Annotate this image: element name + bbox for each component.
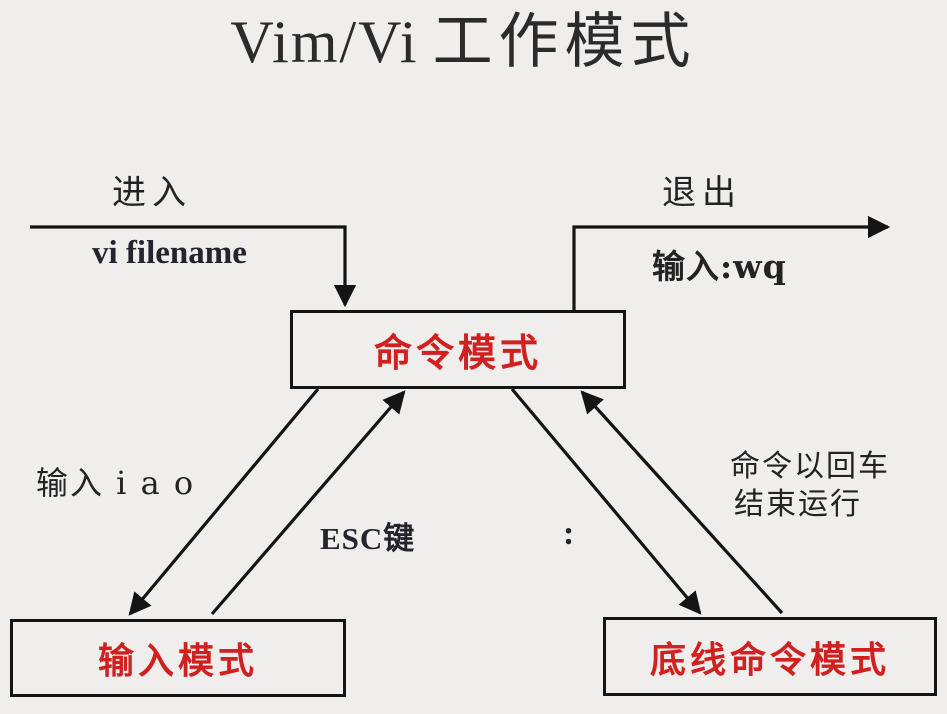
node-insert-mode[interactable]: 输入模式: [10, 619, 346, 697]
node-command-mode-label: 命令模式: [374, 322, 542, 377]
node-lastline-mode-label: 底线命令模式: [650, 631, 890, 683]
connector-insert-command: [212, 392, 404, 614]
label-insert-keys: 输入 i a o: [36, 458, 195, 504]
label-enter-runs-line2: 结束运行: [734, 486, 890, 524]
title-cjk: 工作模式: [433, 9, 697, 75]
label-enter: 进入: [112, 165, 192, 214]
label-write-quit: 输入:wq: [652, 240, 787, 288]
node-lastline-mode[interactable]: 底线命令模式: [603, 617, 937, 696]
label-exit: 退出: [662, 165, 742, 214]
label-vi-filename: vi filename: [92, 235, 247, 272]
node-command-mode[interactable]: 命令模式: [290, 310, 626, 389]
diagram-canvas: Vim/Vi工作模式 命令模式 输入模式 底线命令模式 进入 vi filena…: [0, 0, 947, 714]
connector-command-lastline: [512, 389, 700, 613]
label-colon: :: [563, 515, 574, 553]
page-title: Vim/Vi工作模式: [0, 6, 947, 78]
label-enter-runs: 命令以回车 结束运行: [730, 448, 890, 524]
label-esc-key: ESC键: [320, 513, 415, 558]
label-enter-runs-line1: 命令以回车: [730, 449, 890, 484]
node-insert-mode-label: 输入模式: [98, 632, 258, 684]
title-latin: Vim/Vi: [230, 9, 418, 75]
